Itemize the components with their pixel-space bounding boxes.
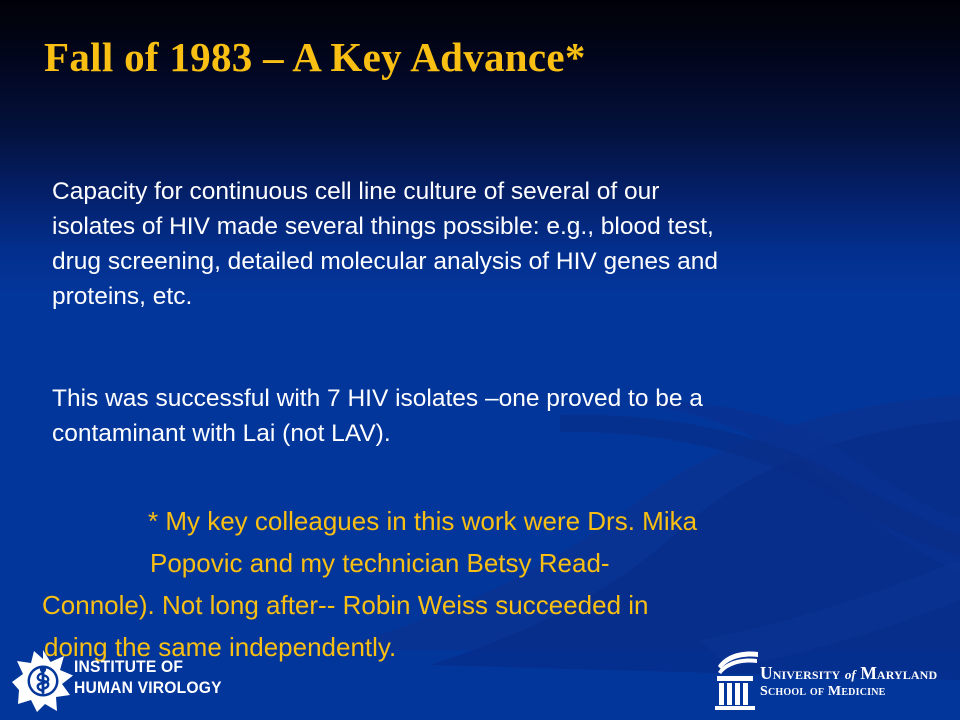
ihv-logo-line-1: INSTITUTE OF	[74, 656, 222, 677]
body-line: drug screening, detailed molecular analy…	[52, 244, 718, 279]
body-line: proteins, etc.	[52, 279, 718, 314]
umd-logo-line-2: School of Medicine	[760, 684, 937, 700]
umd-university-word: University	[760, 663, 845, 683]
body-paragraph-1: Capacity for continuous cell line cultur…	[52, 174, 718, 314]
footnote-line: Popovic and my technician Betsy Read-	[0, 542, 960, 584]
umd-of-word: of	[845, 667, 856, 682]
slide-title: Fall of 1983 – A Key Advance*	[44, 36, 586, 79]
institute-of-human-virology-logo: INSTITUTE OF HUMAN VIROLOGY	[12, 648, 282, 714]
starburst-caduceus-icon	[12, 650, 74, 712]
body-paragraph-2: This was successful with 7 HIV isolates …	[52, 381, 703, 451]
footnote-text: * My key colleagues in this work were Dr…	[0, 500, 960, 668]
columned-building-icon	[712, 650, 764, 712]
body-line: This was successful with 7 HIV isolates …	[52, 381, 703, 416]
footnote-line: Connole). Not long after-- Robin Weiss s…	[0, 584, 960, 626]
ihv-logo-text: INSTITUTE OF HUMAN VIROLOGY	[74, 656, 222, 698]
body-line: contaminant with Lai (not LAV).	[52, 416, 703, 451]
body-line: isolates of HIV made several things poss…	[52, 209, 718, 244]
body-line: Capacity for continuous cell line cultur…	[52, 174, 718, 209]
umd-logo-text: University of Maryland School of Medicin…	[760, 664, 937, 700]
footnote-line: * My key colleagues in this work were Dr…	[0, 500, 960, 542]
presentation-slide: Fall of 1983 – A Key Advance* Capacity f…	[0, 0, 960, 720]
university-of-maryland-logo: University of Maryland School of Medicin…	[712, 648, 952, 714]
umd-logo-line-1: University of Maryland	[760, 664, 937, 684]
umd-maryland-word: Maryland	[856, 663, 937, 683]
ihv-logo-line-2: HUMAN VIROLOGY	[74, 677, 222, 698]
